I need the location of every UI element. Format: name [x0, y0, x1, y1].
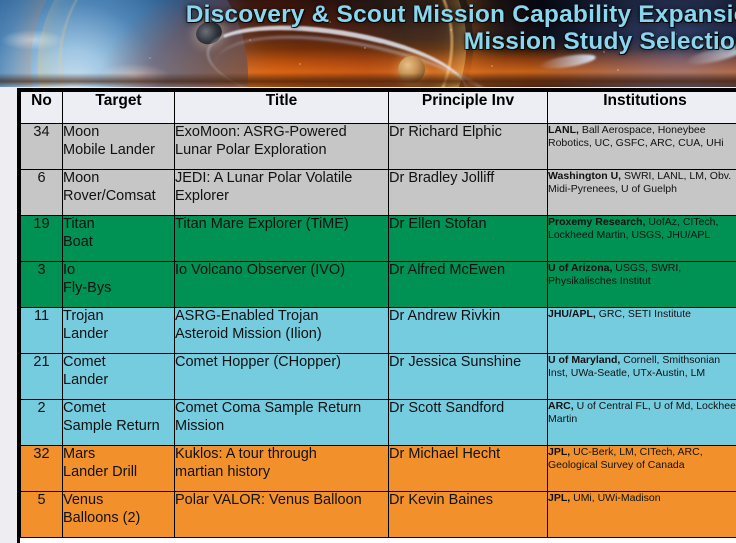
cell-title: ASRG-Enabled TrojanAsteroid Mission (Ili…: [175, 308, 389, 354]
target-line-1: Moon: [63, 170, 174, 188]
table-row: 21CometLanderComet Hopper (CHopper)Dr Je…: [21, 354, 736, 400]
cell-title: Comet Coma Sample ReturnMission: [175, 400, 389, 446]
cell-mission-number: 11: [21, 308, 63, 354]
cell-target: VenusBalloons (2): [63, 492, 175, 538]
target-line-1: Mars: [63, 446, 174, 464]
institution-lead: ARC,: [548, 400, 574, 412]
banner-title-block: Discovery & Scout Mission Capability Exp…: [0, 2, 736, 54]
column-header-title: Title: [175, 92, 389, 124]
cell-title: Kuklos: A tour throughmartian history: [175, 446, 389, 492]
title-line-2: Asteroid Mission (Ilion): [175, 326, 388, 344]
title-line-1: Titan Mare Explorer (TiME): [175, 216, 388, 234]
cell-principle-investigator: Dr Kevin Baines: [389, 492, 548, 538]
institution-list: UC-Berk, LM, CITech, ARC, Geological Sur…: [548, 446, 703, 471]
target-line-2: Balloons (2): [63, 510, 174, 528]
banner-bottom-fade: [0, 73, 736, 87]
title-line-1: ExoMoon: ASRG-Powered: [175, 124, 388, 142]
cell-target: CometLander: [63, 354, 175, 400]
institution-list: U of Central FL, U of Md, Lockheed Marti…: [548, 400, 736, 425]
institution-lead: LANL,: [548, 124, 579, 136]
table-row: 19TitanBoatTitan Mare Explorer (TiME)Dr …: [21, 216, 736, 262]
cell-target: MarsLander Drill: [63, 446, 175, 492]
title-line-2: Lunar Polar Exploration: [175, 142, 388, 160]
cell-target: TrojanLander: [63, 308, 175, 354]
title-line-1: JEDI: A Lunar Polar Volatile: [175, 170, 388, 188]
target-line-2: Boat: [63, 234, 174, 252]
cell-principle-investigator: Dr Jessica Sunshine: [389, 354, 548, 400]
cell-title: JEDI: A Lunar Polar VolatileExplorer: [175, 170, 389, 216]
table-row: 2CometSample ReturnComet Coma Sample Ret…: [21, 400, 736, 446]
cell-principle-investigator: Dr Richard Elphic: [389, 124, 548, 170]
cell-target: TitanBoat: [63, 216, 175, 262]
cell-institutions: U of Maryland, Cornell, Smithsonian Inst…: [548, 354, 736, 400]
cell-institutions: Washington U, SWRI, LANL, LM, Obv. Midi-…: [548, 170, 736, 216]
cell-mission-number: 21: [21, 354, 63, 400]
institution-lead: Proxemy Research,: [548, 216, 645, 228]
column-header-institutions: Institutions: [548, 92, 736, 124]
table-header: No Target Title Principle Inv Institutio…: [21, 92, 736, 124]
target-line-1: Moon: [63, 124, 174, 142]
table-body: 34MoonMobile LanderExoMoon: ASRG-Powered…: [21, 124, 736, 538]
institution-lead: U of Arizona,: [548, 262, 612, 274]
column-header-target: Target: [63, 92, 175, 124]
cell-principle-investigator: Dr Scott Sandford: [389, 400, 548, 446]
cell-mission-number: 2: [21, 400, 63, 446]
mission-table-container: No Target Title Principle Inv Institutio…: [17, 88, 736, 543]
title-line-primary: Discovery & Scout Mission Capability Exp…: [0, 2, 736, 28]
target-line-2: Rover/Comsat: [63, 188, 174, 206]
target-line-2: Fly-Bys: [63, 280, 174, 298]
institution-lead: Washington U,: [548, 170, 621, 182]
title-line-1: Polar VALOR: Venus Balloon: [175, 492, 388, 510]
cell-institutions: JPL, UMi, UWi-Madison: [548, 492, 736, 538]
title-line-2: Explorer: [175, 188, 388, 206]
column-header-no: No: [21, 92, 63, 124]
target-line-2: Mobile Lander: [63, 142, 174, 160]
cell-target: CometSample Return: [63, 400, 175, 446]
cell-title: ExoMoon: ASRG-PoweredLunar Polar Explora…: [175, 124, 389, 170]
target-line-1: Comet: [63, 354, 174, 372]
institution-list: GRC, SETI Institute: [596, 308, 691, 320]
cell-mission-number: 3: [21, 262, 63, 308]
cell-institutions: JPL, UC-Berk, LM, CITech, ARC, Geologica…: [548, 446, 736, 492]
table-header-row: No Target Title Principle Inv Institutio…: [21, 92, 736, 124]
table-row: 3IoFly-BysIo Volcano Observer (IVO)Dr Al…: [21, 262, 736, 308]
institution-lead: JPL,: [548, 446, 570, 458]
target-line-2: Lander: [63, 372, 174, 390]
cell-principle-investigator: Dr Bradley Jolliff: [389, 170, 548, 216]
cell-principle-investigator: Dr Alfred McEwen: [389, 262, 548, 308]
cell-institutions: JHU/APL, GRC, SETI Institute: [548, 308, 736, 354]
cell-title: Titan Mare Explorer (TiME): [175, 216, 389, 262]
table-row: 32MarsLander DrillKuklos: A tour through…: [21, 446, 736, 492]
cell-title: Polar VALOR: Venus Balloon: [175, 492, 389, 538]
cell-institutions: U of Arizona, USGS, SWRI, Physikalisches…: [548, 262, 736, 308]
cell-principle-investigator: Dr Andrew Rivkin: [389, 308, 548, 354]
cell-mission-number: 19: [21, 216, 63, 262]
cell-mission-number: 34: [21, 124, 63, 170]
cell-mission-number: 6: [21, 170, 63, 216]
target-line-1: Titan: [63, 216, 174, 234]
cell-mission-number: 32: [21, 446, 63, 492]
cell-target: IoFly-Bys: [63, 262, 175, 308]
title-line-1: Comet Hopper (CHopper): [175, 354, 388, 372]
cell-institutions: ARC, U of Central FL, U of Md, Lockheed …: [548, 400, 736, 446]
title-line-secondary: Mission Study Selections: [0, 29, 736, 55]
target-line-2: Sample Return: [63, 418, 174, 436]
cell-principle-investigator: Dr Ellen Stofan: [389, 216, 548, 262]
cell-target: MoonMobile Lander: [63, 124, 175, 170]
target-line-2: Lander Drill: [63, 464, 174, 482]
title-line-2: Mission: [175, 418, 388, 436]
target-line-1: Io: [63, 262, 174, 280]
cell-institutions: Proxemy Research, UofAz, CITech, Lockhee…: [548, 216, 736, 262]
institution-lead: JPL,: [548, 492, 570, 504]
title-line-1: Kuklos: A tour through: [175, 446, 388, 464]
institution-lead: U of Maryland,: [548, 354, 620, 366]
cell-title: Io Volcano Observer (IVO): [175, 262, 389, 308]
table-row: 5VenusBalloons (2)Polar VALOR: Venus Bal…: [21, 492, 736, 538]
institution-list: UMi, UWi-Madison: [570, 492, 660, 504]
table-row: 6MoonRover/ComsatJEDI: A Lunar Polar Vol…: [21, 170, 736, 216]
target-line-1: Trojan: [63, 308, 174, 326]
mission-table: No Target Title Principle Inv Institutio…: [20, 91, 736, 538]
title-line-1: Comet Coma Sample Return: [175, 400, 388, 418]
title-line-1: Io Volcano Observer (IVO): [175, 262, 388, 280]
table-row: 34MoonMobile LanderExoMoon: ASRG-Powered…: [21, 124, 736, 170]
column-header-principle-inv: Principle Inv: [389, 92, 548, 124]
cell-title: Comet Hopper (CHopper): [175, 354, 389, 400]
cell-institutions: LANL, Ball Aerospace, Honeybee Robotics,…: [548, 124, 736, 170]
cell-principle-investigator: Dr Michael Hecht: [389, 446, 548, 492]
institution-lead: JHU/APL,: [548, 308, 596, 320]
cell-target: MoonRover/Comsat: [63, 170, 175, 216]
title-line-1: ASRG-Enabled Trojan: [175, 308, 388, 326]
slide-root: Discovery & Scout Mission Capability Exp…: [0, 0, 736, 543]
title-line-2: martian history: [175, 464, 388, 482]
target-line-1: Comet: [63, 400, 174, 418]
target-line-2: Lander: [63, 326, 174, 344]
table-row: 11TrojanLanderASRG-Enabled TrojanAsteroi…: [21, 308, 736, 354]
target-line-1: Venus: [63, 492, 174, 510]
cell-mission-number: 5: [21, 492, 63, 538]
